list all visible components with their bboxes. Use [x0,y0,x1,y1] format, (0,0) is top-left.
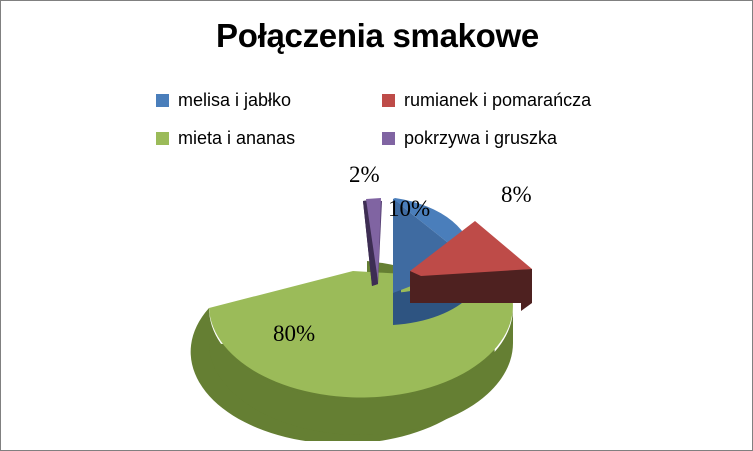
legend-item-label: rumianek i pomarańcza [404,90,591,111]
data-label-blue: 10% [388,196,430,222]
data-label-red: 8% [501,182,532,208]
data-label-purple: 2% [349,162,380,188]
page-title: Połączenia smakowe [1,17,753,55]
data-label-green: 80% [273,321,315,347]
legend-row: melisa i jabłko rumianek i pomarańcza [156,81,626,119]
legend-item-label: melisa i jabłko [178,90,291,111]
pie-chart-panel: Połączenia smakowe melisa i jabłko rumia… [0,0,753,451]
legend-swatch-icon [156,94,169,107]
legend-item-rumianek-i-pomarancza[interactable]: rumianek i pomarańcza [382,90,626,111]
pie-plot-area: 80% 10% 8% 2% [1,141,753,441]
legend-swatch-icon [382,94,395,107]
legend-item-melisa-i-jablko[interactable]: melisa i jabłko [156,90,382,111]
